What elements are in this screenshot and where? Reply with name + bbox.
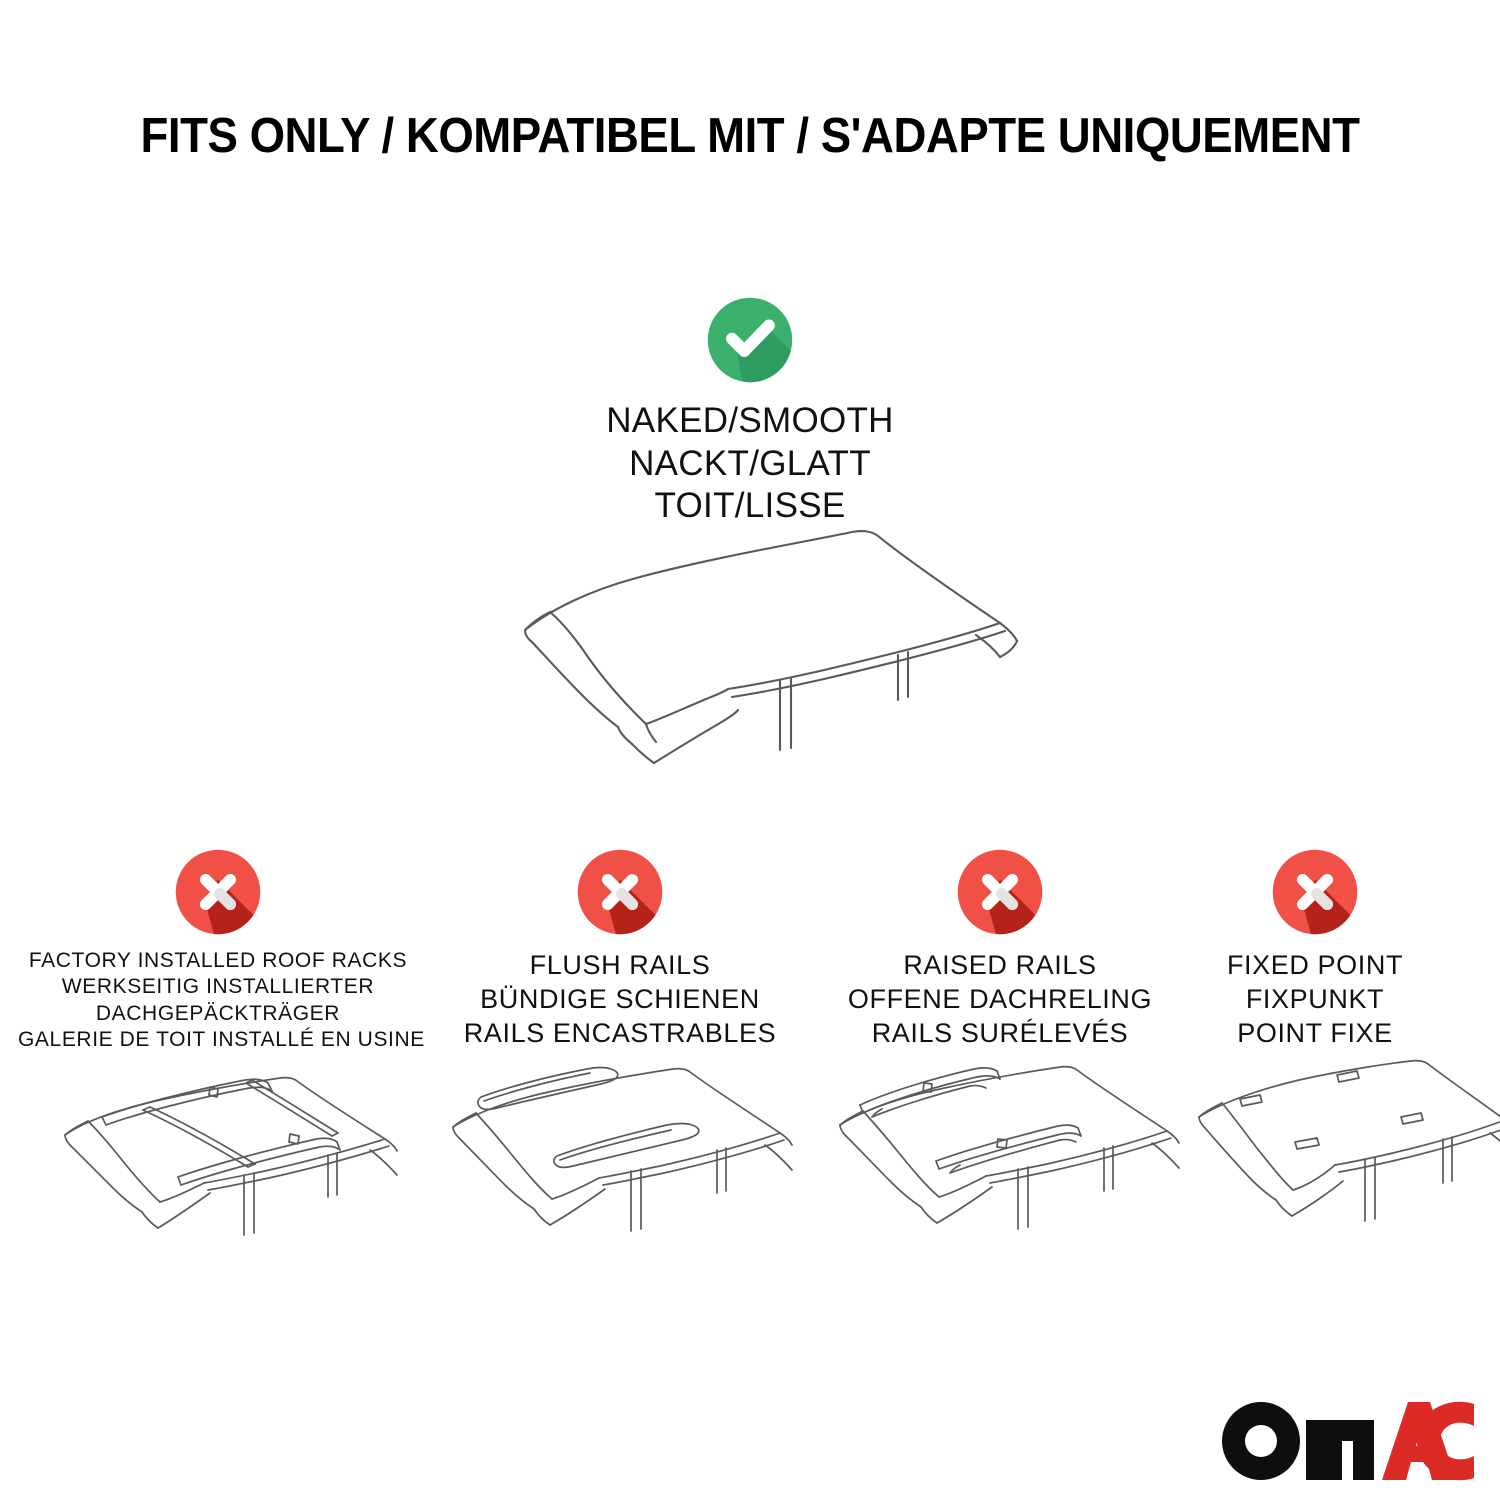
label-line-1: FLUSH RAILS	[440, 948, 800, 982]
incompatible-label-factory: FACTORY INSTALLED ROOF RACKS WERKSEITIG …	[18, 948, 418, 1054]
label-line-1: RAISED RAILS	[820, 948, 1180, 982]
compatible-label-line-1: NAKED/SMOOTH	[0, 400, 1500, 443]
label-line-2: WERKSEITIG INSTALLIERTER	[18, 974, 418, 1000]
logo-letter-m	[1306, 1420, 1374, 1480]
label-line-3: RAILS SURÉLEVÉS	[820, 1016, 1180, 1050]
car-roof-naked-smooth-drawing	[480, 505, 1060, 805]
label-line-1: FACTORY INSTALLED ROOF RACKS	[18, 948, 418, 974]
car-roof-factory-rack-drawing	[40, 1055, 440, 1270]
x-circle-icon	[956, 848, 1044, 936]
label-line-1: FIXED POINT	[1150, 948, 1480, 982]
incompatible-label-raised: RAISED RAILS OFFENE DACHRELING RAILS SUR…	[820, 948, 1180, 1050]
x-circle-icon	[576, 848, 664, 936]
label-line-2: BÜNDIGE SCHIENEN	[440, 982, 800, 1016]
label-line-2: FIXPUNKT	[1150, 982, 1480, 1016]
incompatible-label-fixed-point: FIXED POINT FIXPUNKT POINT FIXE	[1150, 948, 1480, 1050]
x-circle-icon	[174, 848, 262, 936]
page-title: FITS ONLY / KOMPATIBEL MIT / S'ADAPTE UN…	[53, 108, 1448, 164]
label-line-3: RAILS ENCASTRABLES	[440, 1016, 800, 1050]
x-circle-icon	[1271, 848, 1359, 936]
incompatible-item-raised-rails: RAISED RAILS OFFENE DACHRELING RAILS SUR…	[820, 848, 1180, 1050]
compatible-label-line-2: NACKT/GLATT	[0, 443, 1500, 486]
incompatible-item-fixed-point: FIXED POINT FIXPUNKT POINT FIXE	[1150, 848, 1480, 1050]
compatible-section: NAKED/SMOOTH NACKT/GLATT TOIT/LISSE	[0, 296, 1500, 528]
logo-letter-o	[1222, 1402, 1300, 1480]
incompatible-item-factory-installed-roof-racks: FACTORY INSTALLED ROOF RACKS WERKSEITIG …	[18, 848, 418, 1054]
car-roof-raised-rails-drawing	[820, 1055, 1210, 1270]
label-line-4: GALERIE DE TOIT INSTALLÉ EN USINE	[18, 1027, 418, 1053]
incompatible-label-flush: FLUSH RAILS BÜNDIGE SCHIENEN RAILS ENCAS…	[440, 948, 800, 1050]
label-line-2: OFFENE DACHRELING	[820, 982, 1180, 1016]
car-roof-flush-rails-drawing	[435, 1055, 825, 1270]
label-line-3: POINT FIXE	[1150, 1016, 1480, 1050]
omac-logo: OMAC	[1222, 1402, 1474, 1480]
label-line-3: DACHGEPÄCKTRÄGER	[18, 1001, 418, 1027]
car-roof-fixed-point-drawing	[1185, 1055, 1500, 1270]
incompatible-item-flush-rails: FLUSH RAILS BÜNDIGE SCHIENEN RAILS ENCAS…	[440, 848, 800, 1050]
check-circle-icon	[706, 296, 794, 384]
